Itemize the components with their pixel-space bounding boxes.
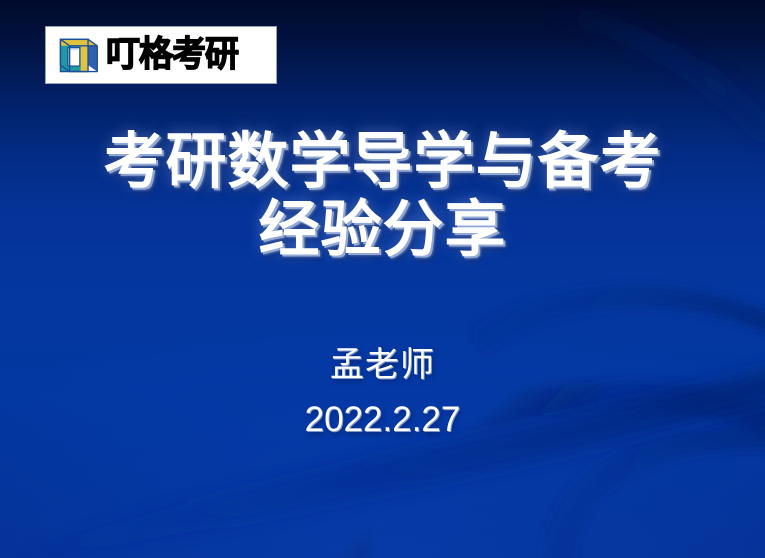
cube-logo-icon [54, 32, 100, 78]
presentation-date: 2022.2.27 [0, 402, 765, 437]
presentation-slide: 叮格考研 考研数学导学与备考 经验分享 孟老师 2022.2.27 [0, 0, 765, 558]
byline-block: 孟老师 2022.2.27 [0, 348, 765, 437]
brand-wordmark: 叮格考研 [106, 38, 238, 73]
title-line-1: 考研数学导学与备考 [103, 126, 661, 197]
page-title: 考研数学导学与备考 经验分享 [0, 128, 765, 265]
brand-logo-plaque: 叮格考研 [46, 27, 276, 83]
background-swoosh-decoration [0, 0, 765, 558]
title-line-2: 经验分享 [0, 196, 765, 264]
presenter-name: 孟老师 [0, 348, 765, 382]
